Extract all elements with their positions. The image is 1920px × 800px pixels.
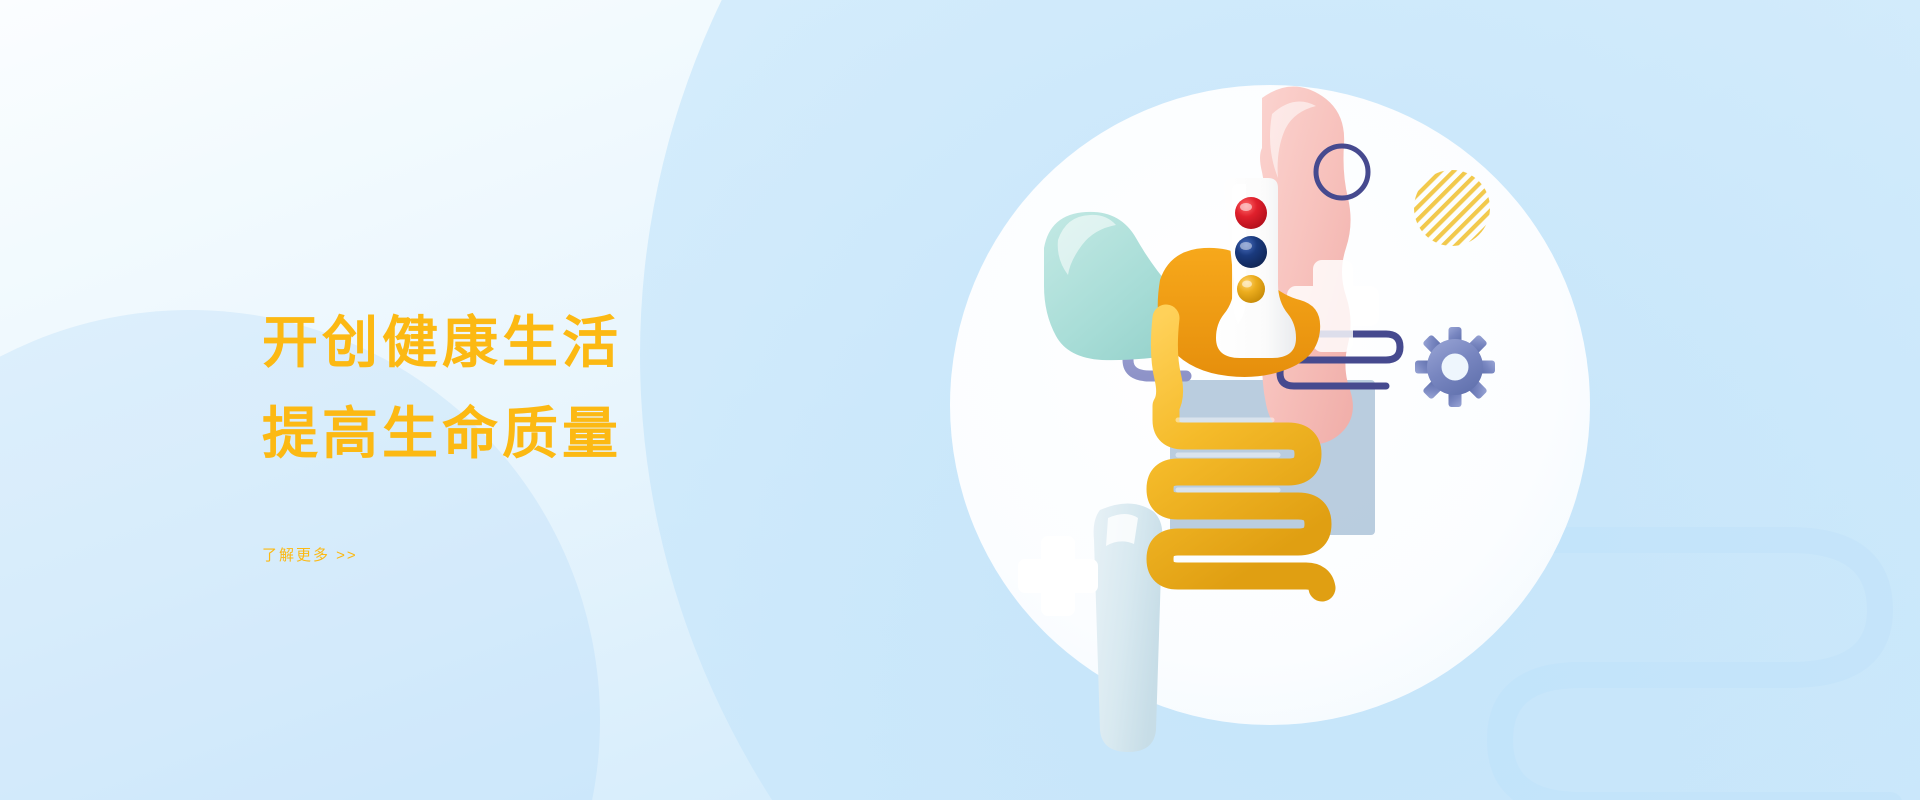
gear-large-icon bbox=[1415, 327, 1495, 407]
pale-tube-highlight bbox=[1106, 514, 1138, 546]
cross-bottom-icon bbox=[1018, 536, 1098, 616]
pill-red-shine bbox=[1240, 203, 1252, 211]
hero-banner: 开创健康生活 提高生命质量 了解更多 >> bbox=[0, 0, 1920, 800]
pill-yellow-shine bbox=[1242, 281, 1252, 288]
headline-line-1: 开创健康生活 bbox=[262, 300, 882, 385]
pill-red bbox=[1235, 197, 1267, 229]
pill-yellow bbox=[1237, 275, 1265, 303]
banner-text-block: 开创健康生活 提高生命质量 了解更多 >> bbox=[262, 300, 882, 565]
pill-navy-shine bbox=[1240, 242, 1252, 250]
pill-navy bbox=[1235, 236, 1267, 268]
learn-more-link[interactable]: 了解更多 >> bbox=[262, 544, 358, 565]
digestive-health-illustration bbox=[1000, 80, 1560, 740]
striped-circle bbox=[1414, 170, 1490, 246]
headline-line-2: 提高生命质量 bbox=[262, 391, 882, 476]
